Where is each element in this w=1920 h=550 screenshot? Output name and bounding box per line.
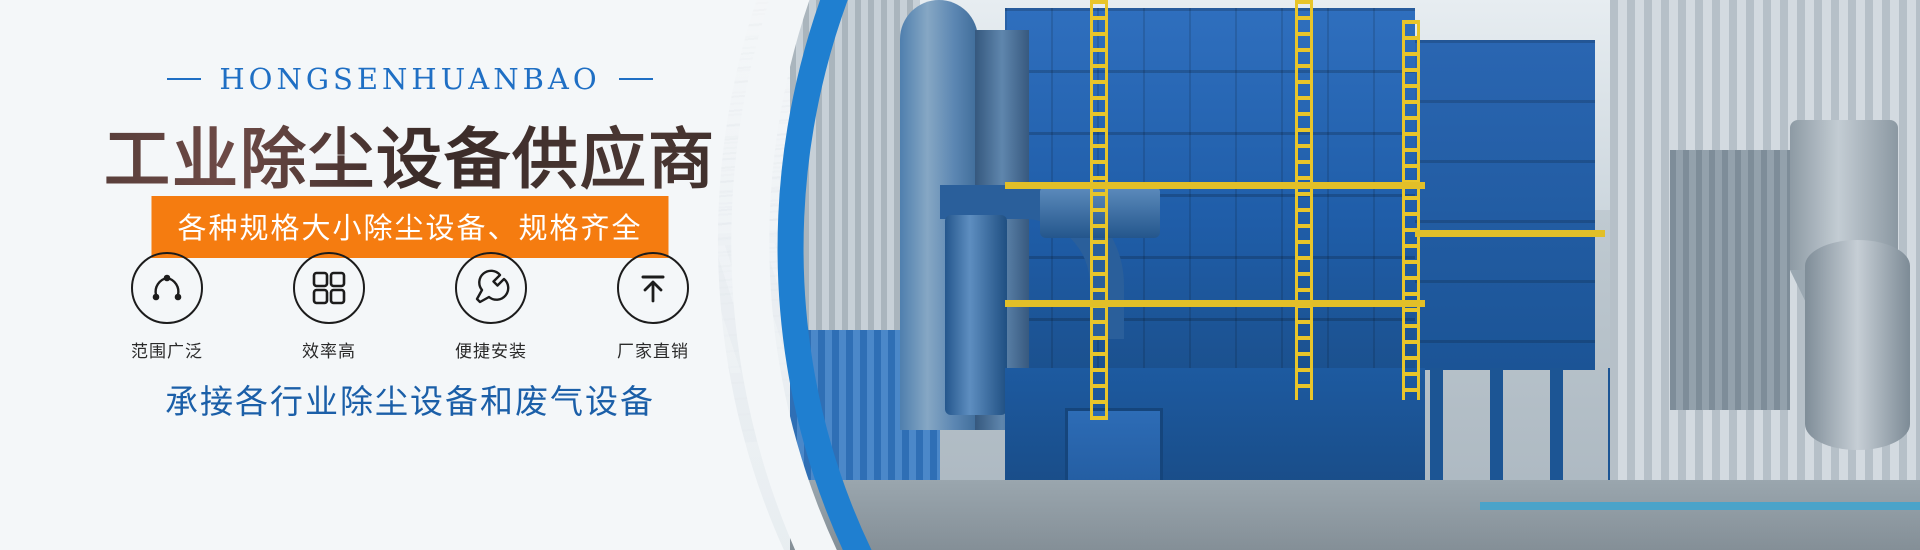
feature-label: 范围广泛: [117, 337, 217, 362]
sub-headline: 承接各行业除尘设备和废气设备: [0, 375, 820, 423]
feature-label: 效率高: [279, 337, 379, 362]
feature-label: 厂家直销: [603, 337, 703, 362]
feature-icon-circle: [617, 252, 689, 324]
feature-icon-circle: [131, 252, 203, 324]
feature-item-factory-direct[interactable]: 厂家直销: [603, 252, 703, 362]
feature-label: 便捷安装: [441, 337, 541, 362]
tagline-badge: 各种规格大小除尘设备、规格齐全: [151, 196, 668, 258]
banner-content: HONGSENHUANBAO 工业除尘设备供应商 各种规格大小除尘设备、规格齐全…: [0, 0, 820, 550]
grid-four-squares-icon: [311, 270, 347, 306]
share-nodes-icon: [147, 268, 187, 308]
feature-item-install[interactable]: 便捷安装: [441, 252, 541, 362]
dash-right-icon: [619, 78, 653, 80]
eyebrow-text: HONGSENHUANBAO: [219, 62, 600, 96]
page-title: 工业除尘设备供应商: [0, 106, 820, 202]
dash-left-icon: [167, 78, 201, 80]
wrench-tool-icon: [472, 269, 510, 307]
feature-icon-circle: [455, 252, 527, 324]
feature-item-efficiency[interactable]: 效率高: [279, 252, 379, 362]
feature-list: 范围广泛 效率高: [0, 252, 820, 362]
eyebrow-pinyin: HONGSENHUANBAO: [0, 62, 820, 96]
feature-item-range[interactable]: 范围广泛: [117, 252, 217, 362]
feature-icon-circle: [293, 252, 365, 324]
hero-banner: HONGSENHUANBAO 工业除尘设备供应商 各种规格大小除尘设备、规格齐全…: [0, 0, 1920, 550]
upload-arrow-icon: [635, 270, 671, 306]
